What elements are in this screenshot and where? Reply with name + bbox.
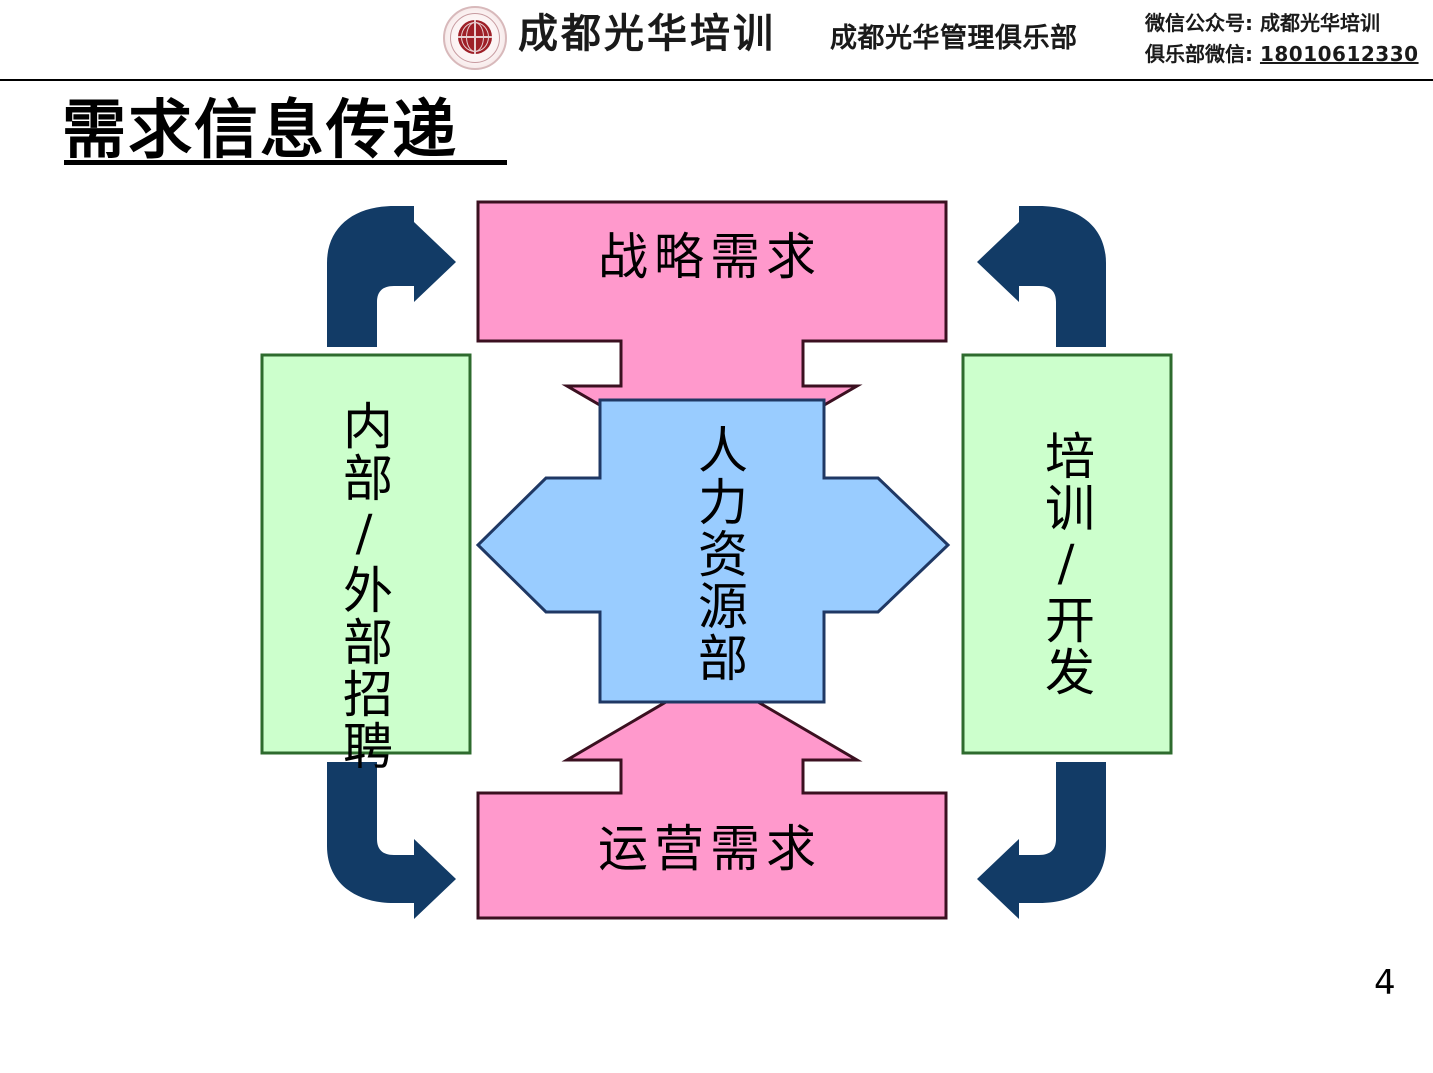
slide-page-number: 4 bbox=[1374, 963, 1396, 1003]
hr-department-box-with-arrows bbox=[478, 400, 948, 702]
bottom-right-curved-arrow bbox=[977, 762, 1106, 919]
bottom-left-curved-arrow bbox=[327, 762, 456, 919]
slide-canvas: 成都光华培训 成都光华管理俱乐部 微信公众号: 成都光华培训 俱乐部微信: 18… bbox=[0, 0, 1433, 1073]
operational-demand-box-with-arrow bbox=[478, 675, 946, 918]
top-right-curved-arrow bbox=[977, 206, 1106, 347]
training-development-box bbox=[963, 355, 1171, 753]
requirements-flow-diagram bbox=[0, 0, 1433, 1073]
internal-external-recruitment-box bbox=[262, 355, 470, 753]
top-left-curved-arrow-shape bbox=[327, 206, 456, 347]
